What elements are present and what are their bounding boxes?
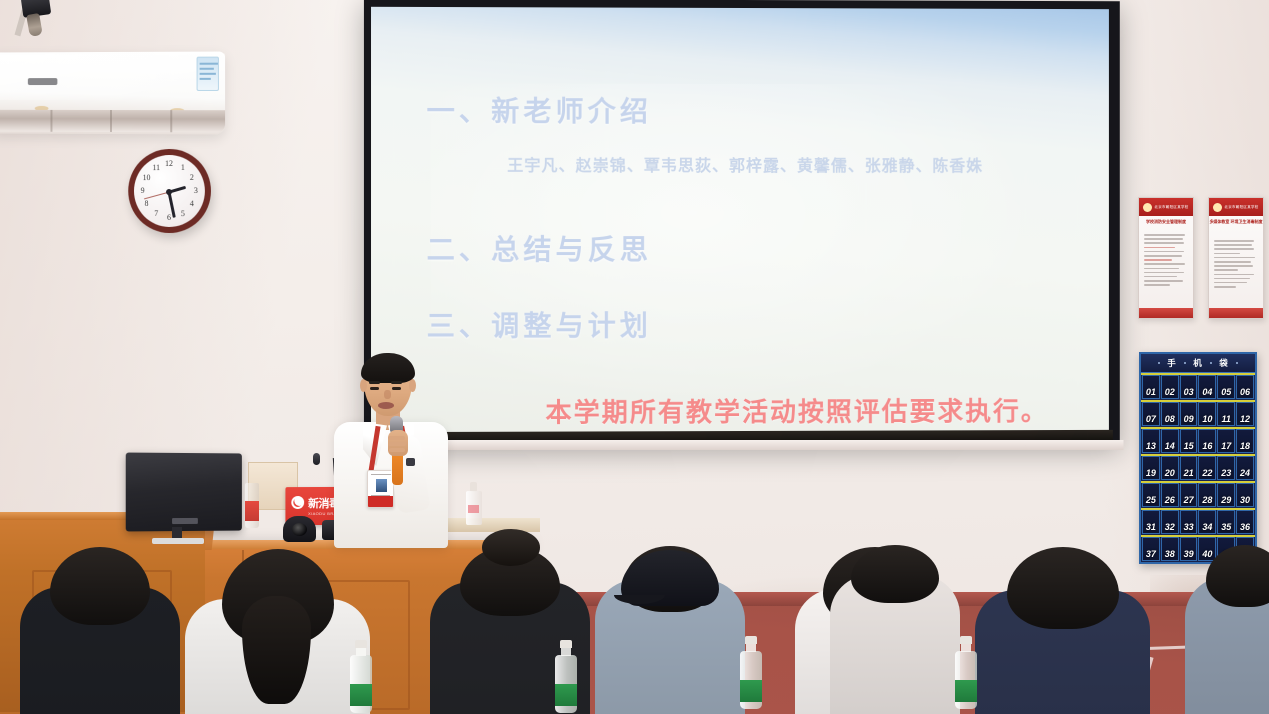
- classroom-scene: 12 1 2 3 4 5 6 7 8 9 10 11 一、新老师介绍: [0, 0, 1269, 714]
- slide-section-1: 一、新老师介绍: [427, 97, 1072, 126]
- phone-pocket-row: 373839404142: [1141, 535, 1255, 562]
- floor-line-diagonal: [1130, 657, 1153, 714]
- conference-camera: [283, 516, 316, 542]
- phone-pocket-32[interactable]: 32: [1161, 510, 1179, 534]
- phone-pocket-number: 40: [1202, 549, 1212, 559]
- presenter-eye-left: [370, 387, 379, 390]
- presenter-finger: [389, 448, 405, 452]
- side-table-leg: [518, 532, 525, 592]
- slide-section-1-heading: 新老师介绍: [491, 96, 652, 127]
- phone-pocket-number: 09: [1184, 414, 1194, 424]
- phone-pocket-15[interactable]: 15: [1180, 429, 1198, 453]
- floor-line-horizontal: [1080, 643, 1269, 653]
- phone-pocket-41[interactable]: 41: [1217, 537, 1235, 561]
- phone-pocket-number: 10: [1202, 414, 1212, 424]
- badge-text-line: [371, 474, 391, 475]
- clock-number: 11: [149, 162, 163, 173]
- phone-pocket-row: 070809101112: [1141, 400, 1255, 427]
- phone-pocket-23[interactable]: 23: [1217, 456, 1235, 480]
- phone-pocket-16[interactable]: 16: [1198, 429, 1216, 453]
- slide-section-2: 二、总结与反思: [427, 236, 1072, 264]
- title-dot-icon: [1184, 362, 1187, 365]
- presenter-eye-right: [392, 387, 401, 390]
- presenter-wristwatch: [406, 458, 415, 466]
- presenter: [330, 352, 450, 547]
- phone-pocket-number: 32: [1165, 522, 1175, 532]
- title-dot-icon: [1210, 362, 1213, 365]
- phone-pocket-number: 28: [1202, 495, 1212, 505]
- phone-pocket-number: 31: [1146, 522, 1156, 532]
- wall-poster-2: 北京市朝阳区某学校 多媒体教室 环境卫生消毒制度: [1208, 197, 1264, 319]
- slide-section-3: 三、调整与计划: [427, 312, 1072, 341]
- poster-emblem-icon: [1143, 203, 1152, 212]
- phone-pocket-number: 18: [1240, 441, 1250, 451]
- phone-pocket-38[interactable]: 38: [1161, 537, 1179, 561]
- phone-pocket-row: 010203040506: [1141, 373, 1255, 400]
- phone-pocket-37[interactable]: 37: [1142, 537, 1160, 561]
- air-conditioner: [0, 52, 225, 135]
- ac-energy-label-icon: [197, 57, 219, 91]
- presenter-hair: [361, 353, 415, 383]
- bottle-label: [245, 501, 259, 521]
- title-dot-icon: [1158, 362, 1161, 365]
- title-dot-icon: [1236, 362, 1239, 365]
- phone-pocket-number: 38: [1165, 549, 1175, 559]
- badge-text-line: [371, 495, 390, 496]
- phone-pocket-number: 04: [1202, 387, 1212, 397]
- screen-valance: [360, 440, 1124, 450]
- slide-section-3-index: 三、: [427, 310, 492, 341]
- phone-pocket-number: 13: [1146, 441, 1156, 451]
- phone-pocket-21[interactable]: 21: [1180, 456, 1198, 480]
- monitor-logo: [172, 518, 198, 524]
- phone-pocket-row: 313233343536: [1141, 508, 1255, 535]
- phone-pocket-number: 12: [1240, 414, 1250, 424]
- wall-clock: 12 1 2 3 4 5 6 7 8 9 10 11: [128, 148, 211, 233]
- slide-section-2-index: 二、: [427, 234, 492, 265]
- phone-pocket-number: 30: [1240, 495, 1250, 505]
- clock-number: 10: [140, 172, 154, 183]
- phone-pocket-number: 23: [1221, 468, 1231, 478]
- phone-pocket-10[interactable]: 10: [1198, 402, 1216, 426]
- phone-pocket-number: 07: [1146, 414, 1156, 424]
- presenter-mouth: [378, 402, 394, 409]
- phone-pocket-number: 15: [1184, 441, 1194, 451]
- phone-pocket-number: 19: [1146, 468, 1156, 478]
- clock-number: 8: [140, 198, 154, 209]
- clock-number: 3: [189, 185, 203, 196]
- phone-pocket-35[interactable]: 35: [1217, 510, 1235, 534]
- presenter-finger: [388, 442, 406, 446]
- phone-pocket-01[interactable]: 01: [1142, 375, 1160, 399]
- phone-pocket-number: 17: [1221, 441, 1231, 451]
- phone-pocket-02[interactable]: 02: [1161, 375, 1179, 399]
- phone-pocket-number: 29: [1221, 495, 1231, 505]
- phone-pocket-row: 252627282930: [1141, 481, 1255, 508]
- ac-air-vent: [0, 110, 225, 133]
- phone-pocket-number: 21: [1184, 468, 1194, 478]
- phone-pocket-number: 05: [1221, 387, 1231, 397]
- clock-number: 2: [185, 172, 199, 183]
- ac-display-panel: [28, 78, 58, 85]
- desk-panel-seam: [242, 550, 244, 714]
- phone-pocket-number: 06: [1240, 387, 1250, 397]
- phone-pocket-number: 01: [1146, 387, 1156, 397]
- phone-pocket-03[interactable]: 03: [1180, 375, 1198, 399]
- slide-section-3-heading: 调整与计划: [491, 310, 652, 341]
- clock-center-pin: [166, 189, 172, 195]
- desk-panel-inset-1: [260, 580, 410, 710]
- phone-pocket-07[interactable]: 07: [1142, 402, 1160, 426]
- poster-title-1: 学校消防安全管理制度: [1139, 219, 1193, 225]
- phone-pocket-number: 26: [1165, 495, 1175, 505]
- conference-camera-lens-icon: [292, 523, 307, 536]
- phone-pocket-title-char-3: 袋: [1219, 357, 1229, 369]
- phone-pocket-14[interactable]: 14: [1161, 429, 1179, 453]
- phone-pocket-number: 42: [1240, 549, 1250, 559]
- brand-logo-icon: [291, 496, 304, 509]
- phone-pocket-40[interactable]: 40: [1198, 537, 1216, 561]
- phone-pocket-grid: 0102030405060708091011121314151617181920…: [1141, 373, 1255, 562]
- presenter-finger: [388, 436, 405, 440]
- phone-pocket-number: 36: [1240, 522, 1250, 532]
- phone-pocket-title-char-1: 手: [1167, 357, 1177, 369]
- phone-pocket-39[interactable]: 39: [1180, 537, 1198, 561]
- monitor-base: [152, 538, 204, 544]
- projection-screen: 一、新老师介绍 王宇凡、赵崇锦、覃韦思荻、郭梓露、黄馨儒、张雅静、陈香姝 二、总…: [364, 0, 1120, 448]
- presenter-ear-right: [409, 379, 416, 392]
- phone-pocket-30[interactable]: 30: [1236, 483, 1254, 507]
- phone-pocket-title-char-2: 机: [1193, 357, 1203, 369]
- phone-pocket-number: 37: [1146, 549, 1156, 559]
- phone-pocket-19[interactable]: 19: [1142, 456, 1160, 480]
- phone-pocket-26[interactable]: 26: [1161, 483, 1179, 507]
- phone-pocket-number: 34: [1202, 522, 1212, 532]
- phone-pocket-12[interactable]: 12: [1236, 402, 1254, 426]
- phone-pocket-24[interactable]: 24: [1236, 456, 1254, 480]
- poster-header-text: 北京市朝阳区某学校: [1224, 205, 1258, 210]
- slide-emphasis-line: 本学期所有教学活动按照评估要求执行。: [545, 391, 1071, 429]
- phone-pocket-number: 39: [1184, 549, 1194, 559]
- slide-names-line: 王宇凡、赵崇锦、覃韦思荻、郭梓露、黄馨儒、张雅静、陈香姝: [507, 152, 1071, 176]
- presenter-microphone-body: [392, 451, 403, 485]
- phone-pocket-11[interactable]: 11: [1217, 402, 1235, 426]
- ac-gloss: [0, 54, 225, 101]
- poster-footer-1: [1139, 308, 1193, 318]
- phone-pocket-number: 08: [1165, 414, 1175, 424]
- clock-number: 12: [162, 158, 176, 169]
- phone-pocket-25[interactable]: 25: [1142, 483, 1160, 507]
- lectern-panel-inset: [32, 570, 172, 705]
- phone-pocket-13[interactable]: 13: [1142, 429, 1160, 453]
- wall-poster-1: 北京市朝阳区某学校 学校消防安全管理制度: [1138, 197, 1194, 319]
- desk-water-bottle: [245, 483, 259, 528]
- phone-pocket-18[interactable]: 18: [1236, 429, 1254, 453]
- computer-monitor[interactable]: [126, 453, 242, 532]
- poster-emblem-icon: [1213, 203, 1222, 212]
- phone-pocket-number: 33: [1184, 522, 1194, 532]
- phone-pocket-row: 192021222324: [1141, 454, 1255, 481]
- phone-pocket-number: 25: [1146, 495, 1156, 505]
- phone-pocket-number: 03: [1184, 387, 1194, 397]
- phone-pocket-number: 11: [1222, 414, 1231, 424]
- phone-pocket-number: 22: [1202, 468, 1212, 478]
- poster-body-lines-1: [1144, 234, 1188, 288]
- clock-number: 7: [149, 208, 163, 219]
- phone-pocket-20[interactable]: 20: [1161, 456, 1179, 480]
- phone-pocket-number: 16: [1202, 441, 1212, 451]
- presenter-id-badge: [367, 470, 394, 508]
- phone-pocket-organizer: 手 机 袋 0102030405060708091011121314151617…: [1139, 352, 1257, 564]
- presenter-brow-right: [391, 381, 402, 384]
- clock-number: 9: [136, 185, 150, 196]
- phone-pocket-33[interactable]: 33: [1180, 510, 1198, 534]
- poster-body-lines-2: [1214, 240, 1258, 290]
- phone-pocket-06[interactable]: 06: [1236, 375, 1254, 399]
- hand-sanitizer-label: [468, 505, 479, 513]
- projection-screen-surface: 一、新老师介绍 王宇凡、赵崇锦、覃韦思荻、郭梓露、黄馨儒、张雅静、陈香姝 二、总…: [371, 7, 1109, 433]
- phone-pocket-42[interactable]: 42: [1236, 537, 1254, 561]
- phone-pocket-title: 手 机 袋: [1141, 354, 1255, 373]
- poster-header-1: 北京市朝阳区某学校: [1139, 198, 1193, 216]
- phone-pocket-number: 20: [1165, 468, 1175, 478]
- poster-header-text: 北京市朝阳区某学校: [1154, 205, 1188, 210]
- phone-pocket-number: 27: [1184, 495, 1194, 505]
- presenter-nose: [384, 390, 391, 399]
- phone-pocket-number: 24: [1240, 468, 1250, 478]
- presenter-brow-left: [369, 381, 380, 384]
- phone-pocket-04[interactable]: 04: [1198, 375, 1216, 399]
- phone-pocket-number: 41: [1221, 549, 1231, 559]
- badge-photo: [376, 479, 387, 492]
- phone-pocket-22[interactable]: 22: [1198, 456, 1216, 480]
- phone-pocket-27[interactable]: 27: [1180, 483, 1198, 507]
- phone-pocket-34[interactable]: 34: [1198, 510, 1216, 534]
- phone-pocket-29[interactable]: 29: [1217, 483, 1235, 507]
- wall-plaque: [915, 593, 934, 615]
- phone-pocket-number: 14: [1165, 441, 1175, 451]
- poster-header-2: 北京市朝阳区某学校: [1209, 198, 1263, 216]
- phone-pocket-17[interactable]: 17: [1217, 429, 1235, 453]
- phone-pocket-36[interactable]: 36: [1236, 510, 1254, 534]
- phone-pocket-31[interactable]: 31: [1142, 510, 1160, 534]
- phone-pocket-09[interactable]: 09: [1180, 402, 1198, 426]
- clock-face: 12 1 2 3 4 5 6 7 8 9 10 11: [134, 155, 205, 228]
- poster-title-2: 多媒体教室 环境卫生消毒制度: [1209, 219, 1263, 225]
- phone-pocket-number: 35: [1221, 522, 1231, 532]
- slide-content: 一、新老师介绍 王宇凡、赵崇锦、覃韦思荻、郭梓露、黄馨儒、张雅静、陈香姝 二、总…: [371, 7, 1109, 433]
- phone-pocket-28[interactable]: 28: [1198, 483, 1216, 507]
- gooseneck-microphone-head: [313, 453, 320, 465]
- phone-pocket-number: 02: [1165, 387, 1175, 397]
- poster-footer-2: [1209, 308, 1263, 318]
- slide-section-2-heading: 总结与反思: [491, 234, 652, 265]
- clock-number: 5: [176, 208, 190, 219]
- phone-pocket-08[interactable]: 08: [1161, 402, 1179, 426]
- phone-pocket-05[interactable]: 05: [1217, 375, 1235, 399]
- slide-section-1-index: 一、: [427, 95, 492, 126]
- phone-pocket-row: 131415161718: [1141, 427, 1255, 454]
